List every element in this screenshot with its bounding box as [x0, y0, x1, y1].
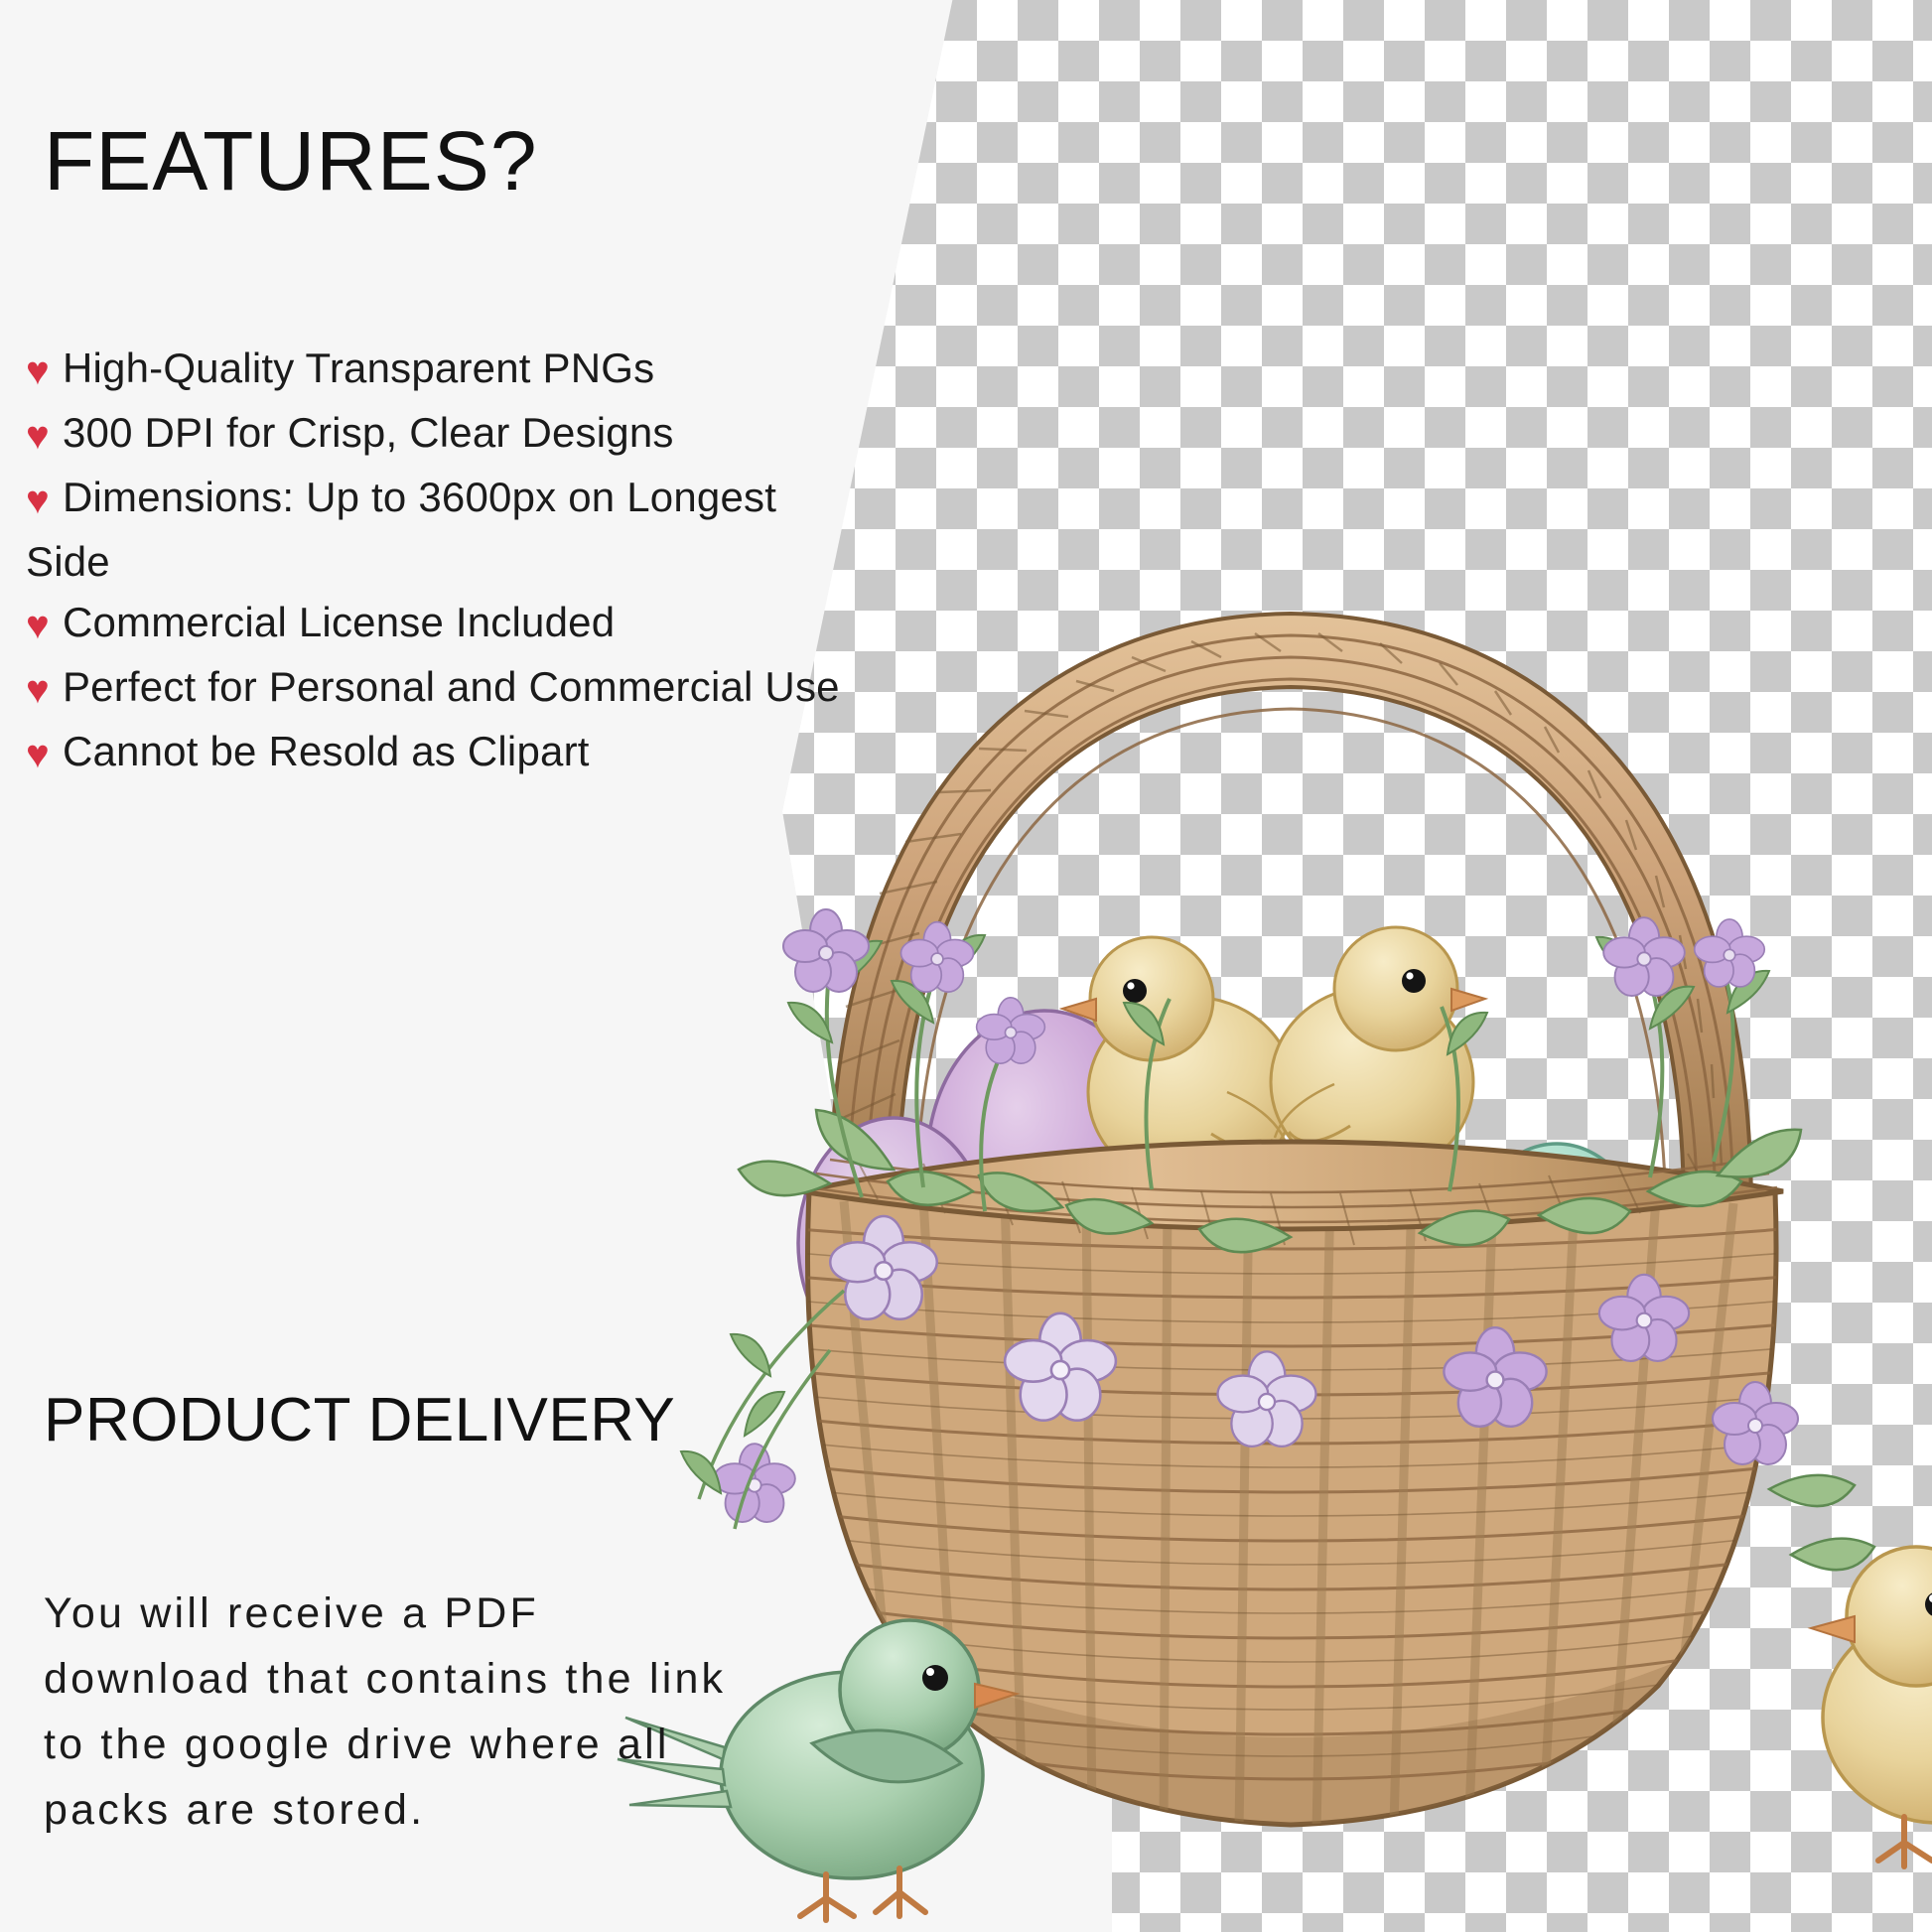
- delivery-body-text: You will receive a PDF download that con…: [44, 1581, 759, 1843]
- feature-label: 300 DPI for Crisp, Clear Designs: [63, 409, 674, 456]
- feature-label: Perfect for Personal and Commercial Use: [63, 663, 840, 710]
- feature-label: Commercial License Included: [63, 599, 615, 645]
- heart-icon: ♥: [26, 342, 50, 402]
- feature-label: High-Quality Transparent PNGs: [63, 345, 654, 391]
- heart-icon: ♥: [26, 406, 50, 467]
- feature-item: ♥Cannot be Resold as Clipart: [26, 721, 870, 785]
- feature-label: Dimensions: Up to 3600px on Longest Side: [26, 474, 776, 585]
- chick-bottom-right: [1811, 1547, 1932, 1866]
- feature-item: ♥High-Quality Transparent PNGs: [26, 338, 870, 402]
- delivery-heading: PRODUCT DELIVERY: [44, 1390, 675, 1451]
- feature-item: ♥Perfect for Personal and Commercial Use: [26, 656, 870, 721]
- heart-icon: ♥: [26, 660, 50, 721]
- feature-item: ♥Dimensions: Up to 3600px on Longest Sid…: [26, 467, 870, 592]
- heart-icon: ♥: [26, 471, 50, 531]
- features-list: ♥High-Quality Transparent PNGs ♥300 DPI …: [26, 338, 870, 785]
- feature-item: ♥Commercial License Included: [26, 592, 870, 656]
- heart-icon: ♥: [26, 596, 50, 656]
- feature-label: Cannot be Resold as Clipart: [63, 728, 590, 774]
- feature-item: ♥300 DPI for Crisp, Clear Designs: [26, 402, 870, 467]
- heart-icon: ♥: [26, 725, 50, 785]
- text-column: FEATURES? ♥High-Quality Transparent PNGs…: [0, 0, 894, 1932]
- page-title: FEATURES?: [44, 119, 538, 203]
- product-listing-image: FEATURES? ♥High-Quality Transparent PNGs…: [0, 0, 1932, 1932]
